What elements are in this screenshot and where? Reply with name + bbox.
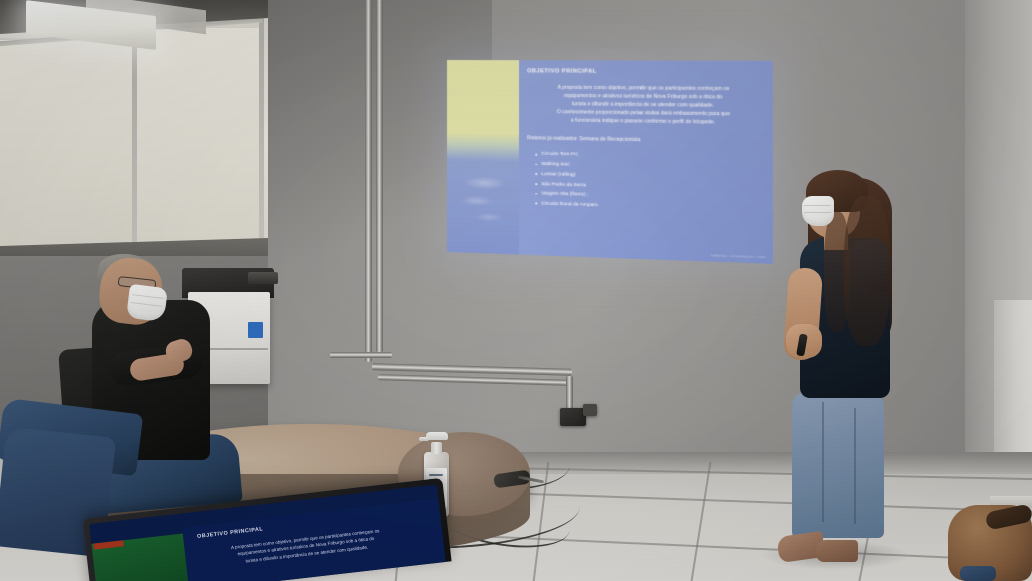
conduit-branch [330,352,392,358]
slide-thumbnail [91,533,190,581]
face-mask-icon [802,196,834,226]
printer-output-tray [248,272,278,284]
slide-bullet-list: Circuito Tere-Fri; Walking tour; Lumiar … [527,150,762,216]
slide-decoration [447,60,519,255]
printer-brand-badge [248,322,263,338]
presenter-jeans [792,392,884,538]
slide-swirl-graphic [455,168,515,234]
slide-subheading: Roteiros já realizados: Semana do Recepc… [527,136,762,146]
jeans-seam [822,402,824,522]
slide-content: OBJETIVO PRINCIPAL A proposta tem como o… [519,60,773,264]
sanitizer-pump-icon[interactable] [426,432,448,440]
conduit-pipe-drop [566,376,573,412]
slide-paragraph: A proposta tem como objetivo, permitir q… [527,84,762,128]
bag-base [960,566,996,581]
glass-pane [0,40,132,245]
slide-title: OBJETIVO PRINCIPAL [527,68,762,75]
mask-fold [804,212,831,213]
partition-mullion [259,0,264,250]
sanitizer-spout [419,437,429,441]
mask-fold [131,302,163,307]
conduit-pipe-vertical [376,0,383,352]
presenter-hair-strand [824,212,850,332]
conduit-pipe-vertical [365,0,372,362]
conduit-junction [583,404,597,416]
glass-pane [137,28,262,240]
mask-fold [804,205,831,206]
slide-footer: SEBRAE | CONVENÇÃO | 2021 [711,253,766,259]
presenter-hair-strand [844,196,890,346]
projected-slide: OBJETIVO PRINCIPAL A proposta tem como o… [447,60,773,264]
mask-fold [132,294,164,299]
jeans-seam [854,408,856,524]
presenter-shoe [816,540,858,562]
sanitizer-neck [431,442,442,454]
label-text-line [429,474,443,476]
photo-scene: OBJETIVO PRINCIPAL A proposta tem como o… [0,0,1032,581]
